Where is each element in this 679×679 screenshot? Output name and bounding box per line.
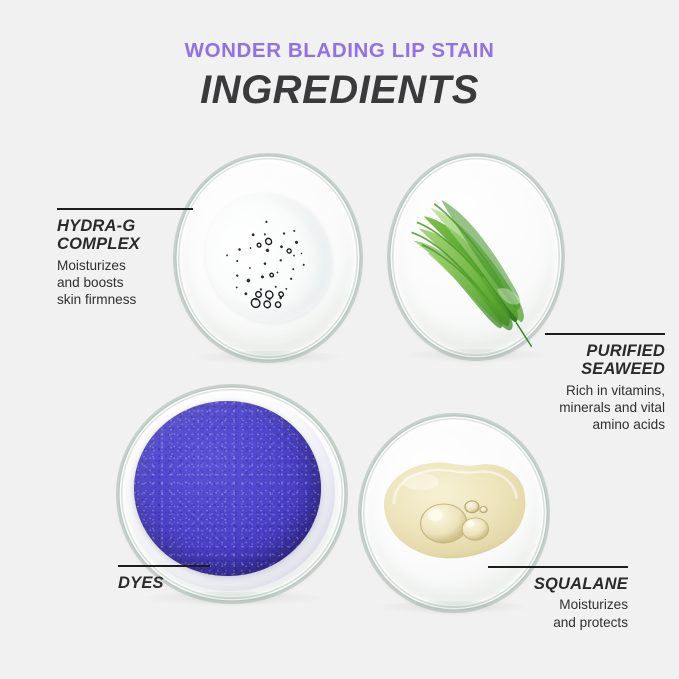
desc-line1: Moisturizes	[57, 257, 207, 274]
desc-line2: and boosts	[57, 274, 207, 291]
product-name-eyebrow: WONDER BLADING LIP STAIN	[0, 40, 679, 63]
label-squalane: SQUALANE Moisturizes and protects	[468, 566, 628, 631]
ingredient-name: PURIFIED SEAWEED	[483, 342, 665, 379]
desc-line2: and protects	[468, 614, 628, 631]
desc-line3: amino acids	[483, 416, 665, 433]
ingredient-name-line2: COMPLEX	[57, 235, 207, 253]
desc-line2: minerals and vital	[483, 399, 665, 416]
powder-grain-texture	[134, 401, 321, 576]
ingredients-infographic: WONDER BLADING LIP STAIN INGREDIENTS	[0, 0, 679, 679]
ingredient-name: SQUALANE	[468, 575, 628, 593]
ingredient-description: Rich in vitamins, minerals and vital ami…	[483, 382, 665, 433]
desc-line1: Rich in vitamins,	[483, 382, 665, 399]
desc-line1: Moisturizes	[468, 596, 628, 613]
ingredient-name: HYDRA-G COMPLEX	[57, 217, 207, 254]
blue-powder	[134, 401, 321, 576]
leader-line	[545, 333, 665, 335]
oil-icon	[371, 440, 536, 579]
dish-shadow	[190, 351, 346, 365]
seaweed-icon	[389, 155, 563, 359]
dish-shadow	[136, 592, 328, 606]
leader-line	[488, 566, 628, 568]
ingredient-description: Moisturizes and boosts skin firmness	[57, 257, 207, 308]
seaweed-illustration	[389, 155, 563, 359]
ingredient-name-line1: PURIFIED	[483, 342, 665, 360]
ingredient-name-line1: HYDRA-G	[57, 217, 207, 235]
petri-dish-seaweed	[389, 155, 563, 359]
header: WONDER BLADING LIP STAIN INGREDIENTS	[0, 40, 679, 111]
oil-puddle	[371, 440, 536, 579]
leader-line	[118, 565, 210, 567]
label-dyes: DYES	[118, 565, 258, 592]
desc-line3: skin firmness	[57, 291, 207, 308]
ingredient-name: DYES	[118, 574, 258, 592]
label-hydra-g: HYDRA-G COMPLEX Moisturizes and boosts s…	[57, 208, 207, 308]
leader-line	[57, 208, 193, 210]
ingredient-description: Moisturizes and protects	[468, 596, 628, 630]
ingredient-name-line1: DYES	[118, 574, 258, 592]
ingredient-name-line2: SEAWEED	[483, 360, 665, 378]
label-purified-seaweed: PURIFIED SEAWEED Rich in vitamins, miner…	[483, 333, 665, 433]
ingredient-name-line1: SQUALANE	[468, 575, 628, 593]
page-title: INGREDIENTS	[0, 69, 679, 111]
